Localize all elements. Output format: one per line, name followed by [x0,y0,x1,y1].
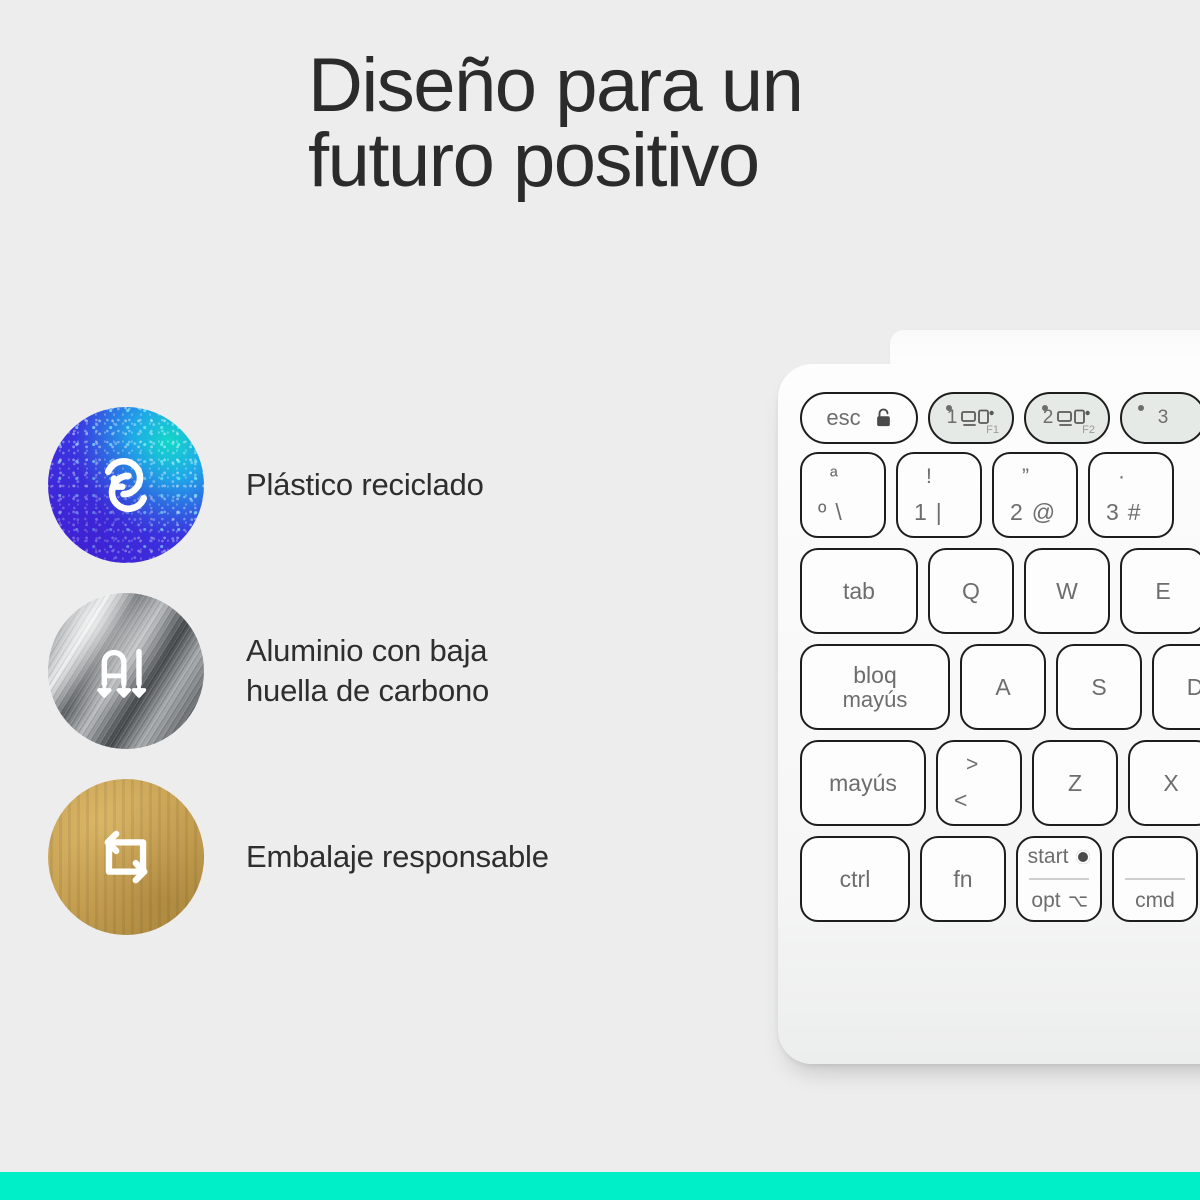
key-1-bottom: 1 [914,501,927,524]
key-cmd-label: cmd [1135,889,1175,913]
feature-label-aluminium: Aluminio con baja huella de carbono [246,631,489,712]
option-key-icon [1069,895,1087,908]
keyboard-row-qwerty: tab Q W E [800,548,1200,634]
page-title: Diseño para un futuro positivo [308,48,1028,198]
key-z-label: Z [1068,771,1082,795]
keyboard-row-modifier: ctrl fn start opt [800,836,1200,922]
status-dot [1138,405,1144,411]
key-start-opt[interactable]: start opt [1016,836,1102,922]
key-q[interactable]: Q [928,548,1014,634]
aluminium-low-carbon-icon [48,593,204,749]
responsible-packaging-icon [48,779,204,935]
key-caps-lock-label: bloq [853,662,896,688]
key-start-label: start [1028,845,1069,869]
key-a-label: A [995,675,1010,699]
key-ordinal-extra: \ [835,501,841,524]
key-tab-label: tab [843,579,875,603]
status-dot [1042,405,1048,411]
key-caps-lock[interactable]: bloq mayús [800,644,950,730]
keyboard-row-shift: mayús > < Z X [800,740,1200,826]
key-x[interactable]: X [1128,740,1200,826]
recycle-loop-icon [87,446,165,524]
key-divider [1125,878,1186,880]
keyboard-product-image: esc 1 F1 [760,318,1200,1108]
key-f2[interactable]: 2 F2 [1024,392,1110,444]
key-w-label: W [1056,579,1078,603]
key-1-top: ! [914,466,932,487]
key-2-extra: @ [1032,501,1055,524]
key-1-extra: | [936,501,942,524]
key-cmd[interactable]: cmd [1112,836,1198,922]
recycled-plastic-icon [48,407,204,563]
feature-item-aluminium: Aluminio con baja huella de carbono [48,578,708,764]
key-fn-label: fn [953,867,972,891]
page-title-line-2: futuro positivo [308,123,1028,198]
keyboard-row-number: ª º \ ! 1 | ” [800,452,1200,538]
key-ctrl[interactable]: ctrl [800,836,910,922]
key-f3-number: 3 [1158,407,1169,429]
repeat-square-icon [87,818,165,896]
key-f1-fn-label: F1 [986,424,999,436]
keyboard-key-rows: esc 1 F1 [800,392,1200,922]
key-s-label: S [1091,675,1106,699]
key-caps-lock-label2: mayús [843,688,908,711]
feature-item-recycled-plastic: Plástico reciclado [48,392,708,578]
key-2-top: ” [1010,466,1029,487]
key-shift[interactable]: mayús [800,740,926,826]
key-divider [1029,878,1090,880]
feature-label-packaging: Embalaje responsable [246,837,549,877]
al-down-arrows-icon [87,632,165,710]
key-e[interactable]: E [1120,548,1200,634]
key-3[interactable]: · 3 # [1088,452,1174,538]
key-esc[interactable]: esc [800,392,918,444]
key-shift-label: mayús [829,771,897,795]
page-title-line-1: Diseño para un [308,48,1028,123]
keyboard-row-home: bloq mayús A S D [800,644,1200,730]
key-esc-label: esc [826,405,860,431]
key-s[interactable]: S [1056,644,1142,730]
key-1[interactable]: ! 1 | [896,452,982,538]
key-a[interactable]: A [960,644,1046,730]
key-w[interactable]: W [1024,548,1110,634]
key-ordinal[interactable]: ª º \ [800,452,886,538]
feature-item-packaging: Embalaje responsable [48,764,708,950]
key-q-label: Q [962,579,980,603]
key-angle-bottom: < [954,789,967,812]
key-3-bottom: 3 [1106,501,1119,524]
key-tab[interactable]: tab [800,548,918,634]
feature-list: Plástico reciclado Aluminio con baja hue… [48,392,708,950]
key-opt-label: opt [1031,889,1060,913]
key-3-extra: # [1128,501,1141,524]
key-f3[interactable]: 3 [1120,392,1200,444]
key-x-label: X [1163,771,1178,795]
key-ctrl-label: ctrl [840,867,871,891]
key-d[interactable]: D [1152,644,1200,730]
key-angle-top: > [954,754,978,775]
key-angle-brackets[interactable]: > < [936,740,1022,826]
key-fn[interactable]: fn [920,836,1006,922]
key-d-label: D [1187,675,1200,699]
key-f1[interactable]: 1 F1 [928,392,1014,444]
status-dot [946,405,952,411]
key-e-label: E [1155,579,1170,603]
windows-dot-icon [1076,850,1090,864]
key-ordinal-bottom: º [818,501,826,524]
key-3-top: · [1106,466,1125,487]
key-2[interactable]: ” 2 @ [992,452,1078,538]
key-ordinal-top: ª [818,466,838,487]
bottom-accent-bar [0,1172,1200,1200]
keyboard-row-function: esc 1 F1 [800,392,1200,444]
key-f2-fn-label: F2 [1082,424,1095,436]
lock-icon [875,408,892,428]
feature-label-recycled-plastic: Plástico reciclado [246,465,484,505]
key-2-bottom: 2 [1010,501,1023,524]
key-z[interactable]: Z [1032,740,1118,826]
